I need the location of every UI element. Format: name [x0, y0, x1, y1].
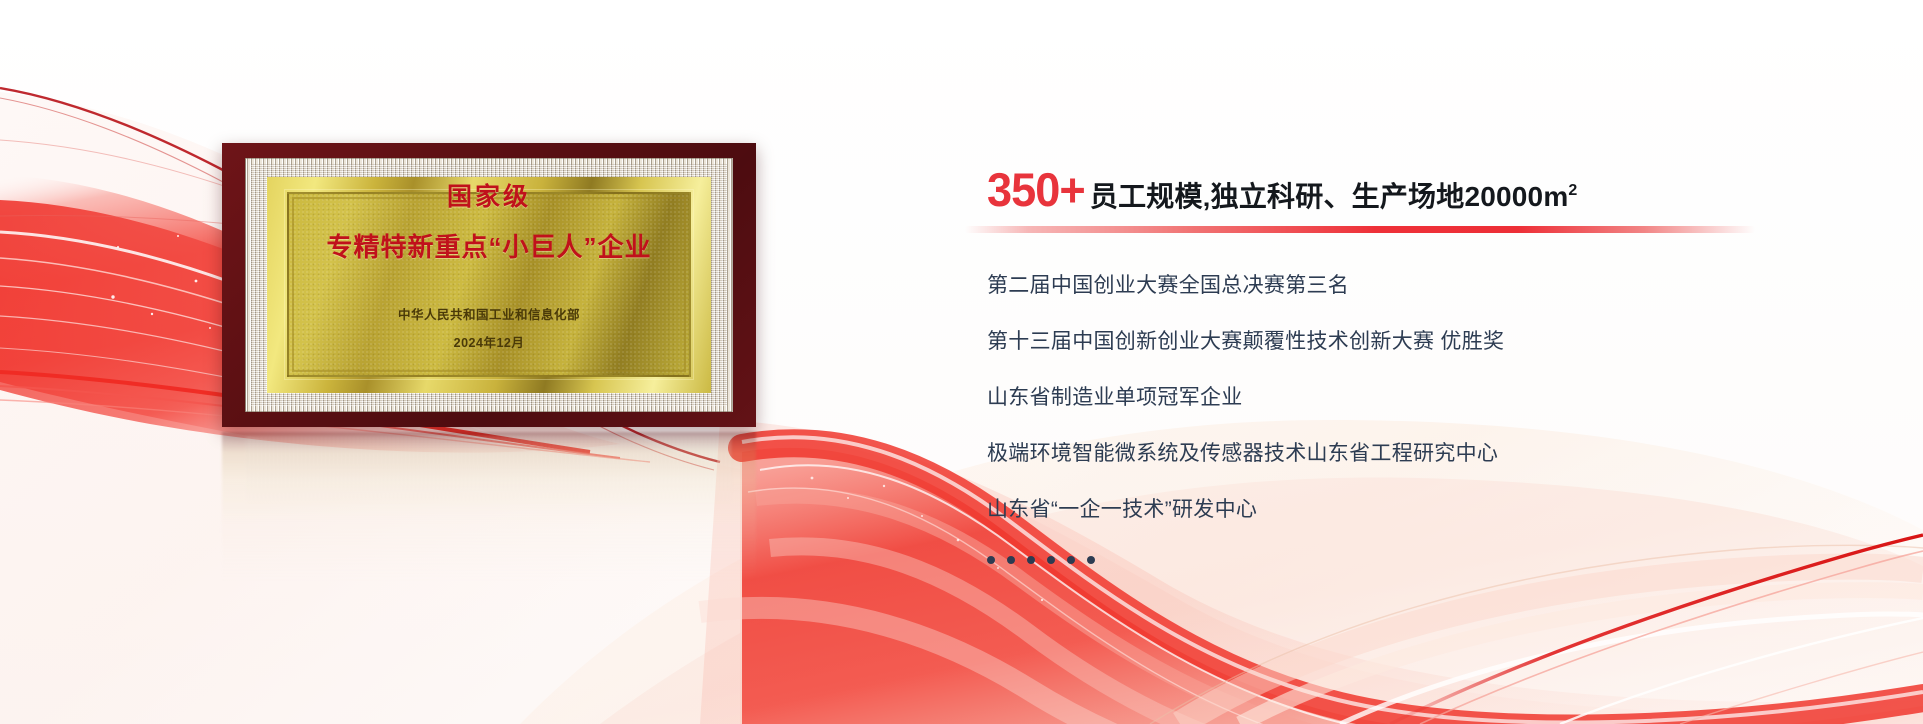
plaque-issuer: 中华人民共和国工业和信息化部	[398, 304, 580, 323]
ellipsis-dot	[1067, 556, 1075, 564]
headline-superscript: 2	[1568, 182, 1577, 200]
list-item: 第二届中国创业大赛全国总决赛第三名	[987, 275, 1807, 296]
ellipsis-dot	[1087, 556, 1095, 564]
plaque-text-block: 国家级 专精特新重点“小巨人”企业 中华人民共和国工业和信息化部 2024年12…	[222, 143, 756, 427]
list-item: 极端环境智能微系统及传感器技术山东省工程研究中心	[987, 443, 1807, 464]
award-plaque: 国家级 专精特新重点“小巨人”企业 中华人民共和国工业和信息化部 2024年12…	[222, 143, 756, 427]
ellipsis-dots	[987, 555, 1807, 565]
plaque-date: 2024年12月	[454, 332, 525, 351]
plaque-subtitle: 专精特新重点“小巨人”企业	[326, 227, 651, 264]
list-item: 第十三届中国创新创业大赛颠覆性技术创新大赛 优胜奖	[987, 331, 1807, 352]
headline-underline-rule	[965, 226, 1755, 233]
ellipsis-dot	[987, 556, 995, 564]
content-column: 350+ 员工规模‚独立科研、生产场地20000m 2 第二届中国创业大赛全国总…	[987, 166, 1807, 565]
list-item: 山东省制造业单项冠军企业	[987, 387, 1807, 408]
plaque-title: 国家级	[447, 177, 531, 213]
honors-list: 第二届中国创业大赛全国总决赛第三名 第十三届中国创新创业大赛颠覆性技术创新大赛 …	[987, 275, 1807, 565]
ellipsis-dot	[1027, 556, 1035, 564]
ellipsis-dot	[1007, 556, 1015, 564]
headline-number: 350+	[987, 166, 1085, 213]
headline-text: 员工规模‚独立科研、生产场地20000m	[1090, 183, 1569, 211]
list-item: 山东省“一企一技术”研发中心	[987, 499, 1807, 520]
banner-canvas: 国家级 专精特新重点“小巨人”企业 中华人民共和国工业和信息化部 2024年12…	[0, 0, 1923, 724]
ellipsis-dot	[1047, 556, 1055, 564]
headline: 350+ 员工规模‚独立科研、生产场地20000m 2	[987, 166, 1807, 213]
plaque-reflection	[222, 432, 756, 582]
